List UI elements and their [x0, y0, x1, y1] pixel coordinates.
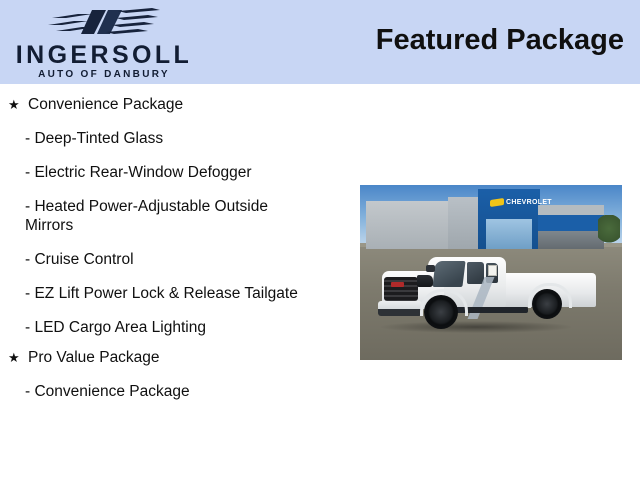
package-name: Pro Value Package — [28, 349, 160, 366]
truck-headlight — [417, 275, 433, 287]
star-bullet-icon: ★ — [8, 95, 20, 114]
truck-shadow — [380, 321, 572, 333]
window-sticker — [488, 265, 497, 276]
package-feature: - Heated Power-Adjustable Outside Mirror… — [0, 197, 312, 235]
package-feature: - Convenience Package — [0, 382, 312, 401]
package-name: Convenience Package — [28, 96, 183, 113]
gmc-badge-icon — [391, 282, 404, 287]
package-heading: ★ Convenience Package — [0, 95, 348, 114]
brand-name: INGERSOLL — [0, 43, 208, 68]
star-bullet-icon: ★ — [8, 348, 20, 367]
ingersoll-winged-monogram-icon — [48, 4, 160, 38]
dealer-logo: INGERSOLL AUTO OF DANBURY — [0, 2, 208, 82]
truck-rear-wheel — [532, 289, 562, 319]
package-feature: - Cruise Control — [0, 250, 312, 269]
truck-side-mirror — [426, 265, 435, 272]
dealership-wing-band — [538, 215, 604, 231]
dealership-wing-lower — [538, 231, 604, 249]
package-group: ★ Convenience Package - Deep-Tinted Glas… — [0, 95, 348, 337]
vehicle-photo: CHEVROLET — [360, 185, 622, 360]
vehicle-photo-canvas: CHEVROLET — [360, 185, 622, 360]
page-header: INGERSOLL AUTO OF DANBURY Featured Packa… — [0, 0, 640, 84]
package-heading: ★ Pro Value Package — [0, 348, 348, 367]
truck-bumper-lower — [378, 309, 422, 316]
truck-front-wheel — [424, 295, 458, 329]
tree — [598, 215, 620, 245]
package-feature: - EZ Lift Power Lock & Release Tailgate — [0, 284, 312, 303]
brand-tagline: AUTO OF DANBURY — [0, 70, 208, 80]
package-feature: - LED Cargo Area Lighting — [0, 318, 312, 337]
truck-windshield — [432, 261, 465, 287]
dealership-building-left — [366, 201, 458, 249]
package-feature: - Electric Rear-Window Defogger — [0, 163, 312, 182]
page-title: Featured Package — [376, 24, 624, 57]
package-feature: - Deep-Tinted Glass — [0, 129, 312, 148]
package-group: ★ Pro Value Package - Convenience Packag… — [0, 348, 348, 401]
package-list: ★ Convenience Package - Deep-Tinted Glas… — [0, 84, 348, 480]
truck-front-window — [467, 262, 484, 284]
truck-grille — [384, 277, 418, 301]
dealership-entrance-glass — [486, 219, 532, 249]
